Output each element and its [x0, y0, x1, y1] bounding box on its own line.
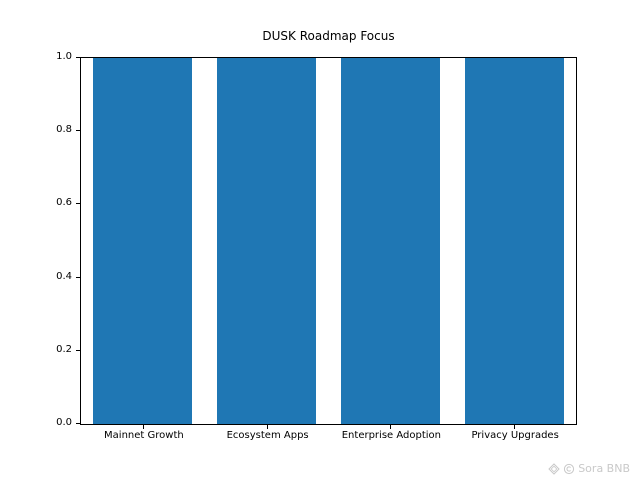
x-axis-tick-label: Privacy Upgrades	[471, 430, 558, 442]
bar	[341, 58, 440, 424]
x-axis-tick-label: Enterprise Adoption	[342, 430, 441, 442]
y-axis-tick-label: 1.0	[56, 51, 72, 63]
y-axis-tick: 0.2	[76, 350, 81, 351]
diamond-icon	[548, 463, 560, 475]
y-axis-tick: 0.8	[76, 130, 81, 131]
x-axis-tick: Privacy Upgrades	[514, 424, 515, 429]
copyright-icon	[563, 463, 575, 475]
chart-figure: DUSK Roadmap Focus 0.00.20.40.60.81.0 Ma…	[0, 0, 640, 480]
x-axis-tick-label: Mainnet Growth	[104, 430, 184, 442]
x-axis-tick: Ecosystem Apps	[267, 424, 268, 429]
y-axis-tick-label: 0.0	[56, 417, 72, 429]
watermark-label: Sora BNB	[578, 462, 630, 475]
y-axis-tick: 0.6	[76, 203, 81, 204]
watermark: Sora BNB	[548, 462, 630, 475]
bar	[93, 58, 192, 424]
y-axis-tick: 0.0	[76, 423, 81, 424]
plot-area: 0.00.20.40.60.81.0 Mainnet GrowthEcosyst…	[80, 57, 577, 425]
bars-layer	[81, 58, 576, 424]
x-axis-tick: Enterprise Adoption	[390, 424, 391, 429]
bar	[465, 58, 564, 424]
x-axis-tick: Mainnet Growth	[143, 424, 144, 429]
y-axis-tick-label: 0.6	[56, 197, 72, 209]
y-axis-tick-label: 0.4	[56, 271, 72, 283]
x-axis-tick-label: Ecosystem Apps	[227, 430, 309, 442]
y-axis-tick-label: 0.2	[56, 344, 72, 356]
chart-title: DUSK Roadmap Focus	[80, 29, 577, 43]
bar	[217, 58, 316, 424]
y-axis-tick: 1.0	[76, 57, 81, 58]
y-axis-tick-label: 0.8	[56, 124, 72, 136]
y-axis-tick: 0.4	[76, 277, 81, 278]
